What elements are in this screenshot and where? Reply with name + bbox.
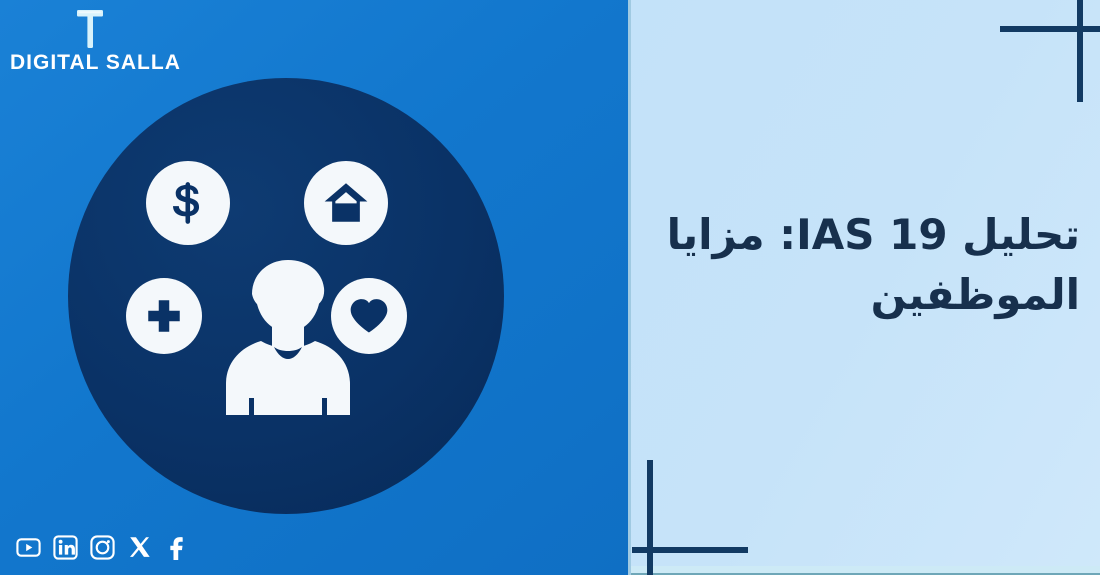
crosshair-top-right — [1000, 0, 1100, 102]
logo-t-monogram-icon — [73, 8, 107, 50]
crosshair-horizontal-line — [1000, 26, 1100, 32]
page-title: تحليل IAS 19: مزايا الموظفين — [645, 205, 1080, 324]
house-badge — [304, 161, 388, 245]
house-icon — [321, 178, 371, 228]
dollar-icon — [163, 178, 213, 228]
dollar-badge — [146, 161, 230, 245]
employee-benefits-illustration — [68, 78, 504, 514]
brand-logo[interactable]: DIGITAL SALLA — [10, 8, 170, 75]
medical-cross-icon — [143, 295, 185, 337]
instagram-icon[interactable] — [88, 533, 116, 561]
logo-wordmark: DIGITAL SALLA — [10, 51, 170, 75]
person-avatar-icon — [208, 250, 368, 435]
crosshair-vertical-line — [1077, 0, 1083, 102]
promo-banner: DIGITAL SALLA — [0, 0, 1100, 575]
youtube-icon[interactable] — [14, 533, 42, 561]
linkedin-icon[interactable] — [51, 533, 79, 561]
crosshair-bottom-left-panel — [632, 460, 748, 575]
social-links-bar — [14, 533, 190, 561]
crosshair-vertical-line — [647, 460, 653, 575]
medical-badge — [126, 278, 202, 354]
x-twitter-icon[interactable] — [125, 533, 153, 561]
facebook-icon[interactable] — [162, 533, 190, 561]
